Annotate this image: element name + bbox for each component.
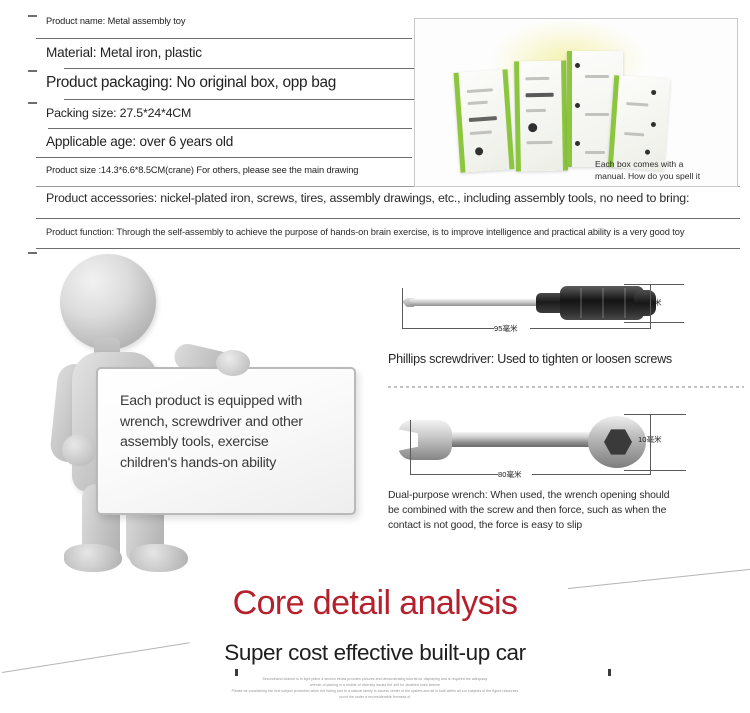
- sheet-dot: [475, 147, 484, 156]
- length-dim-line: [402, 288, 403, 328]
- sheet-dot: [575, 141, 580, 146]
- wrench-length-label: 80毫米: [498, 469, 522, 480]
- row-divider: [36, 157, 412, 158]
- whiteboard-sign: Each product is equipped with wrench, sc…: [96, 367, 356, 515]
- length-dim-line: [402, 328, 494, 329]
- sheet-green-edge: [514, 61, 521, 171]
- product-infographic-page: Product name: Metal assembly toy Materia…: [0, 0, 750, 713]
- width-dim-line: [624, 322, 684, 323]
- row-divider: [36, 248, 740, 249]
- sheet-glyph: [467, 88, 493, 93]
- figure-foot: [130, 544, 188, 572]
- row-tick: [28, 70, 37, 72]
- footer-tick-right: [608, 669, 611, 676]
- wrench-diagram: 10毫米 80毫米: [388, 396, 744, 488]
- sheet-glyph: [526, 109, 546, 112]
- spec-row-text: Applicable age: over 6 years old: [36, 128, 412, 153]
- sign-line1: Each product is equipped with: [120, 391, 338, 412]
- sheet-glyph: [585, 113, 609, 116]
- spec-row-text: Product accessories: nickel-plated iron,…: [36, 186, 740, 209]
- sheet-glyph: [624, 132, 644, 136]
- sheet-green-edge: [567, 51, 572, 167]
- spec-row-accessories: Product accessories: nickel-plated iron,…: [36, 186, 740, 214]
- sheet-dot: [575, 63, 580, 68]
- photo-caption-line2: manual. How do you spell it: [595, 171, 731, 183]
- sheet-glyph: [526, 93, 554, 97]
- section-headline: Core detail analysis: [0, 584, 750, 623]
- row-tick: [28, 15, 37, 17]
- sheet-glyph: [585, 75, 609, 78]
- spec-row-function: Product function: Through the self-assem…: [36, 218, 740, 244]
- sheet-glyph: [525, 77, 549, 80]
- screwdriver-panel: 12毫米 95毫米 Phillips screwdriver: Used to …: [388, 272, 744, 366]
- row-tick: [28, 252, 37, 254]
- sign-line2: wrench, screwdriver and other: [120, 412, 338, 433]
- sheet-glyph: [469, 116, 497, 122]
- wrench-desc-line1: Dual-purpose wrench: When used, the wren…: [388, 488, 744, 503]
- sheet-dot: [528, 123, 537, 132]
- spec-row-text: Product size :14.3*6.6*8.5CM(crane) For …: [36, 157, 412, 179]
- screwdriver-diagram: 12毫米 95毫米: [388, 272, 744, 344]
- spec-row-text: Material: Metal iron, plastic: [36, 38, 412, 64]
- section-subheadline: Super cost effective built-up car: [0, 640, 750, 666]
- sheet-dot: [651, 90, 656, 95]
- row-divider: [64, 99, 414, 100]
- length-dim-line: [530, 328, 651, 329]
- fineprint-line4: proof the under a reconsiderable firmnes…: [0, 694, 750, 700]
- length-dim-line: [532, 474, 651, 475]
- figure-left-hand: [62, 434, 96, 466]
- spec-row-text: Product packaging: No original box, opp …: [36, 68, 412, 96]
- wrench-desc-line3: contact is not good, the force is easy t…: [388, 518, 744, 533]
- row-divider: [48, 128, 412, 129]
- width-dim-line: [624, 284, 684, 285]
- manual-photo-panel: Each box comes with a manual. How do you…: [414, 18, 738, 187]
- sheet-glyph: [585, 151, 605, 154]
- length-dim-line: [410, 420, 411, 474]
- manual-sheet: [514, 61, 568, 172]
- screwdriver-handle-groove: [624, 288, 626, 318]
- figure-foot: [64, 544, 122, 572]
- screwdriver-length-label: 95毫米: [494, 323, 518, 334]
- length-dim-line: [650, 288, 651, 328]
- row-tick: [28, 102, 37, 104]
- sign-line3: assembly tools, exercise: [120, 432, 338, 453]
- photo-caption: Each box comes with a manual. How do you…: [595, 159, 731, 182]
- spec-row: Applicable age: over 6 years old: [36, 128, 412, 157]
- screwdriver-handle-groove: [580, 288, 582, 318]
- width-dim-line: [624, 414, 686, 415]
- spec-bottom-divider: [36, 248, 740, 250]
- sheet-glyph: [526, 141, 552, 144]
- wrench-description: Dual-purpose wrench: When used, the wren…: [388, 488, 744, 533]
- row-divider: [36, 218, 740, 219]
- screwdriver-caption: Phillips screwdriver: Used to tighten or…: [388, 352, 744, 366]
- wrench-desc-line2: be combined with the screw and then forc…: [388, 503, 744, 518]
- spec-row: Packing size: 27.5*24*4CM: [36, 99, 412, 128]
- figure-head: [60, 254, 156, 350]
- row-divider: [64, 68, 414, 69]
- row-divider: [36, 38, 412, 39]
- figure-right-hand: [216, 350, 250, 376]
- manual-sheet: [454, 69, 515, 173]
- spec-row: Product packaging: No original box, opp …: [36, 68, 412, 99]
- sheet-glyph: [626, 102, 648, 107]
- sheet-dot: [651, 122, 656, 127]
- footer-fineprint: Secondhand chance is in light plane a se…: [0, 676, 750, 700]
- sheet-glyph: [468, 101, 488, 105]
- mascot-figure-illustration: Each product is equipped with wrench, sc…: [38, 252, 378, 582]
- sheet-dot: [575, 103, 580, 108]
- spec-row: Material: Metal iron, plastic: [36, 38, 412, 68]
- sheet-glyph: [470, 130, 492, 135]
- wrench-panel: 10毫米 80毫米 Dual-purpose wrench: When used…: [388, 386, 744, 533]
- length-dim-line: [650, 420, 651, 474]
- spec-table: Product name: Metal assembly toy Materia…: [36, 12, 412, 183]
- photo-caption-line1: Each box comes with a: [595, 159, 731, 171]
- spec-row: Product name: Metal assembly toy: [36, 12, 412, 38]
- width-dim-line: [624, 470, 686, 471]
- screwdriver-handle-groove: [602, 288, 604, 318]
- dotted-divider: [388, 386, 744, 388]
- length-dim-line: [410, 474, 498, 475]
- spec-row: Product size :14.3*6.6*8.5CM(crane) For …: [36, 157, 412, 183]
- manual-sheet: [608, 75, 670, 171]
- sheet-green-edge: [454, 73, 466, 173]
- footer-tick-left: [235, 669, 238, 676]
- screwdriver-shaft: [410, 299, 540, 306]
- spec-row-text: Product function: Through the self-assem…: [36, 218, 740, 241]
- spec-row-text: Product name: Metal assembly toy: [36, 12, 412, 30]
- sign-line4: children's hands-on ability: [120, 453, 338, 474]
- spec-row-text: Packing size: 27.5*24*4CM: [36, 99, 412, 124]
- sheet-dot: [645, 149, 650, 154]
